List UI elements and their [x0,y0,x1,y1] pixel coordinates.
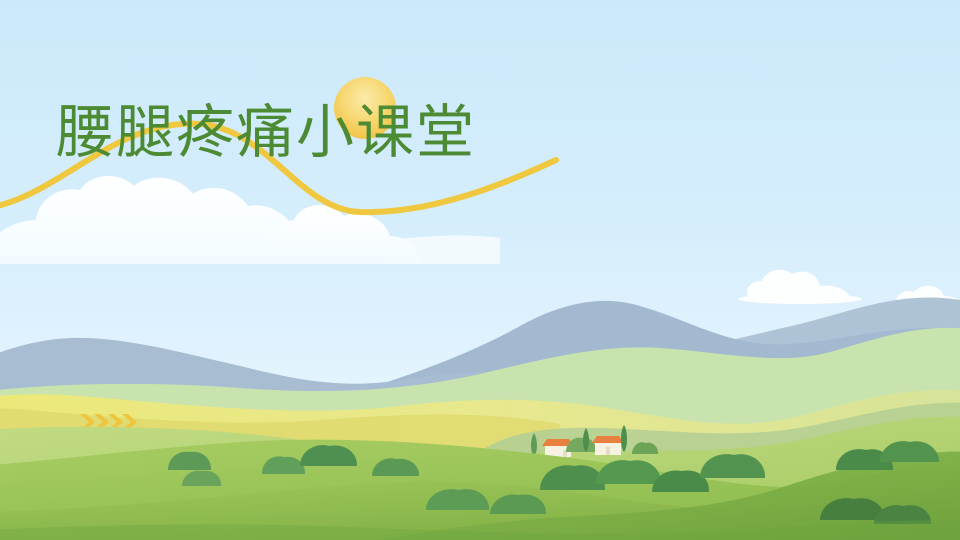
slide-canvas: 腰腿疼痛小课堂 [0,0,960,540]
farmhouse-right [592,436,624,455]
landscape-illustration [0,0,960,540]
page-title: 腰腿疼痛小课堂 [56,104,476,162]
